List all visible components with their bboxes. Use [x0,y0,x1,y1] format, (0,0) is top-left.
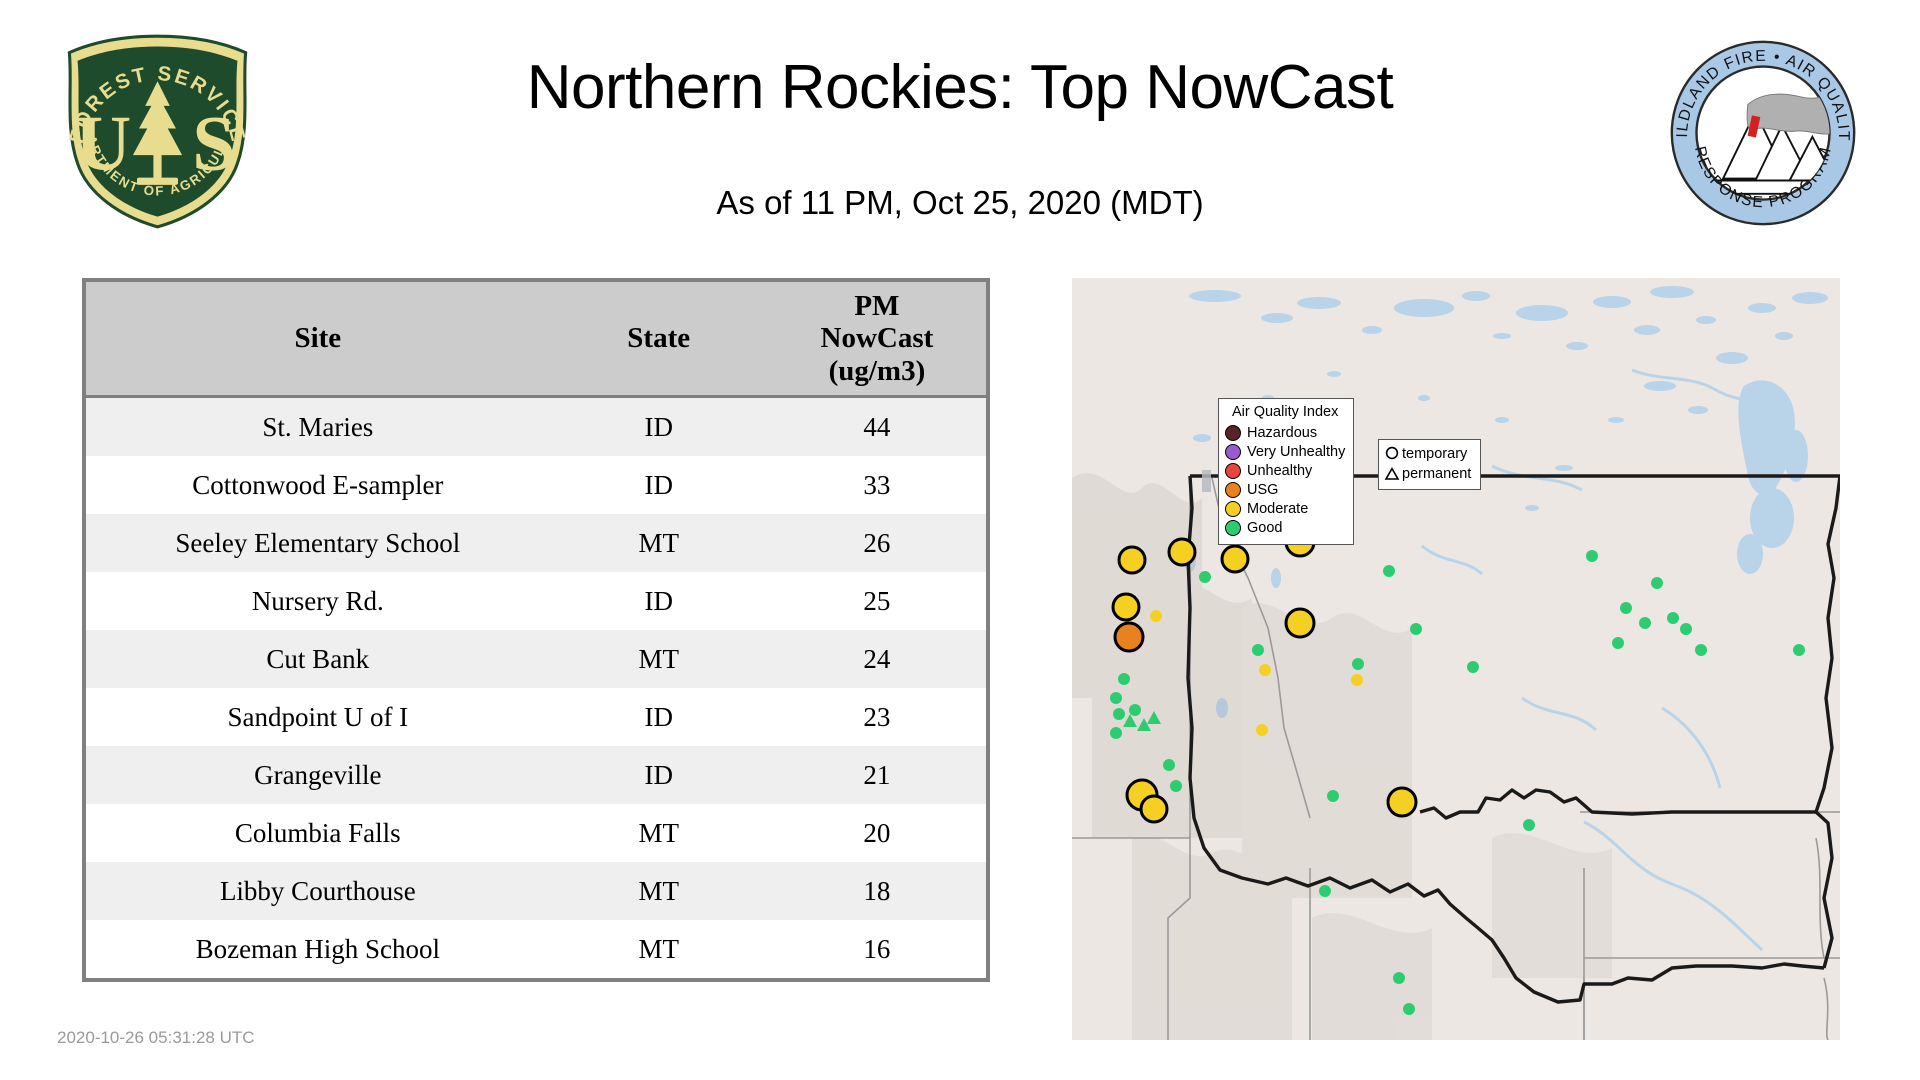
column-header-site: Site [86,282,550,397]
map-marker-monitor[interactable] [1620,602,1632,614]
map-marker-monitor[interactable] [1695,644,1707,656]
site-cell: Cut Bank [86,630,550,688]
top-nowcast-table-container: Site State PM NowCast (ug/m3) St. Maries… [82,278,990,982]
svg-text:S: S [192,100,235,186]
pm-nowcast-cell: 20 [768,804,986,862]
site-type-legend-permanent-label: permanent [1402,467,1471,482]
pm-nowcast-cell: 44 [768,397,986,457]
map-marker-top-site[interactable] [1119,547,1145,573]
state-cell: MT [550,862,768,920]
aqi-category-swatch-icon [1225,482,1241,498]
map-marker-monitor[interactable] [1410,623,1422,635]
table-row: Cottonwood E-samplerID33 [86,456,986,514]
state-cell: ID [550,397,768,457]
map-marker-top-site[interactable] [1388,788,1416,816]
page-subtitle: As of 11 PM, Oct 25, 2020 (MDT) [260,184,1660,222]
site-cell: Nursery Rd. [86,572,550,630]
map-marker-monitor[interactable] [1680,623,1692,635]
aqi-legend-row: Hazardous [1225,424,1345,443]
map-marker-monitor[interactable] [1352,658,1364,670]
wildland-fire-air-quality-logo: WILDLAND FIRE • AIR QUALITY RESPONSE PRO… [1668,38,1858,228]
aqi-legend-label: Moderate [1247,502,1308,517]
map-marker-monitor[interactable] [1163,759,1175,771]
site-cell: Seeley Elementary School [86,514,550,572]
aqi-category-swatch-icon [1225,444,1241,460]
triangle-icon [1384,466,1402,482]
site-cell: Cottonwood E-sampler [86,456,550,514]
forest-service-logo: FOREST SERVICE DEPARTMENT OF AGRICULTURE… [55,28,260,233]
aqi-category-swatch-icon [1225,463,1241,479]
table-row: Columbia FallsMT20 [86,804,986,862]
site-type-legend-temporary-label: temporary [1402,447,1467,462]
map-marker-monitor[interactable] [1393,972,1405,984]
aqi-category-swatch-icon [1225,501,1241,517]
aqi-legend-row: Moderate [1225,500,1345,519]
map-marker-monitor[interactable] [1523,819,1535,831]
aqi-legend-label: Good [1247,521,1282,536]
site-cell: Columbia Falls [86,804,550,862]
site-cell: Libby Courthouse [86,862,550,920]
map-marker-top-site[interactable] [1222,546,1248,572]
map-marker-monitor[interactable] [1319,885,1331,897]
aqi-legend: Air Quality Index HazardousVery Unhealth… [1218,398,1354,545]
site-type-legend: temporary permanent [1378,439,1481,490]
aqi-legend-row: Very Unhealthy [1225,443,1345,462]
map-marker-monitor[interactable] [1113,708,1125,720]
table-header-row: Site State PM NowCast (ug/m3) [86,282,986,397]
state-cell: ID [550,572,768,630]
map-marker-monitor[interactable] [1651,577,1663,589]
table-body: St. MariesID44Cottonwood E-samplerID33Se… [86,397,986,979]
map-marker-monitor[interactable] [1467,661,1479,673]
aqi-legend-row: Unhealthy [1225,462,1345,481]
table-row: Nursery Rd.ID25 [86,572,986,630]
map-marker-top-site[interactable] [1113,594,1139,620]
state-cell: MT [550,630,768,688]
table-row: Seeley Elementary SchoolMT26 [86,514,986,572]
nowcast-report-page: FOREST SERVICE DEPARTMENT OF AGRICULTURE… [0,0,1920,1080]
aqi-legend-items: HazardousVery UnhealthyUnhealthyUSGModer… [1225,424,1345,538]
site-cell: St. Maries [86,397,550,457]
state-cell: ID [550,456,768,514]
map-marker-monitor[interactable] [1586,550,1598,562]
map-marker-monitor[interactable] [1170,780,1182,792]
site-cell: Bozeman High School [86,920,550,978]
map-marker-top-site[interactable] [1115,623,1143,651]
state-cell: MT [550,804,768,862]
map-marker-top-site[interactable] [1286,609,1314,637]
pm-nowcast-cell: 21 [768,746,986,804]
page-title: Northern Rockies: Top NowCast [260,52,1660,123]
generated-timestamp: 2020-10-26 05:31:28 UTC [57,1028,255,1048]
site-type-legend-permanent: permanent [1384,464,1471,484]
map-marker-monitor[interactable] [1259,664,1271,676]
table-header: Site State PM NowCast (ug/m3) [86,282,986,397]
pm-nowcast-cell: 18 [768,862,986,920]
map-marker-top-site[interactable] [1169,539,1195,565]
map-marker-monitor[interactable] [1383,565,1395,577]
map-marker-monitor[interactable] [1639,617,1651,629]
map-marker-monitor[interactable] [1667,612,1679,624]
map-marker-monitor[interactable] [1110,692,1122,704]
map-border-marker [1202,470,1211,492]
map-marker-monitor[interactable] [1199,571,1211,583]
aqi-category-swatch-icon [1225,425,1241,441]
pm-nowcast-cell: 33 [768,456,986,514]
table-row: Cut BankMT24 [86,630,986,688]
circle-icon [1384,446,1402,462]
map-marker-monitor[interactable] [1110,727,1122,739]
aqi-legend-label: Very Unhealthy [1247,445,1345,460]
map-marker-monitor[interactable] [1403,1003,1415,1015]
column-header-state: State [550,282,768,397]
column-header-pm-line-2: NowCast [772,322,982,354]
aqi-legend-row: USG [1225,481,1345,500]
air-quality-monitor-map[interactable]: Air Quality Index HazardousVery Unhealth… [1072,278,1840,1040]
map-marker-monitor[interactable] [1118,673,1130,685]
column-header-pm-line-3: (ug/m3) [772,355,982,387]
pm-nowcast-cell: 24 [768,630,986,688]
pm-nowcast-cell: 16 [768,920,986,978]
map-marker-monitor[interactable] [1793,644,1805,656]
state-cell: ID [550,688,768,746]
table-row: Libby CourthouseMT18 [86,862,986,920]
svg-text:U: U [75,100,131,186]
top-nowcast-table: Site State PM NowCast (ug/m3) St. Maries… [86,282,986,978]
site-type-legend-temporary: temporary [1384,444,1471,464]
state-cell: ID [550,746,768,804]
pm-nowcast-cell: 25 [768,572,986,630]
pm-nowcast-cell: 26 [768,514,986,572]
aqi-legend-title: Air Quality Index [1225,405,1345,420]
table-row: GrangevilleID21 [86,746,986,804]
site-cell: Grangeville [86,746,550,804]
site-cell: Sandpoint U of I [86,688,550,746]
column-header-pm-line-1: PM [772,290,982,322]
map-marker-monitor[interactable] [1150,610,1162,622]
aqi-legend-label: Hazardous [1247,426,1317,441]
map-marker-monitor[interactable] [1351,674,1363,686]
state-cell: MT [550,920,768,978]
map-marker-monitor[interactable] [1612,637,1624,649]
state-cell: MT [550,514,768,572]
map-marker-monitor[interactable] [1252,644,1264,656]
pm-nowcast-cell: 23 [768,688,986,746]
aqi-legend-row: Good [1225,519,1345,538]
map-canvas[interactable] [1072,278,1840,1040]
table-row: Sandpoint U of IID23 [86,688,986,746]
map-marker-monitor[interactable] [1327,790,1339,802]
aqi-legend-label: Unhealthy [1247,464,1312,479]
aqi-legend-label: USG [1247,483,1278,498]
map-marker-monitor[interactable] [1129,704,1141,716]
map-marker-monitor[interactable] [1256,724,1268,736]
aqi-category-swatch-icon [1225,520,1241,536]
map-marker-top-site[interactable] [1141,796,1167,822]
table-row: St. MariesID44 [86,397,986,457]
table-row: Bozeman High SchoolMT16 [86,920,986,978]
column-header-pm-nowcast: PM NowCast (ug/m3) [768,282,986,397]
